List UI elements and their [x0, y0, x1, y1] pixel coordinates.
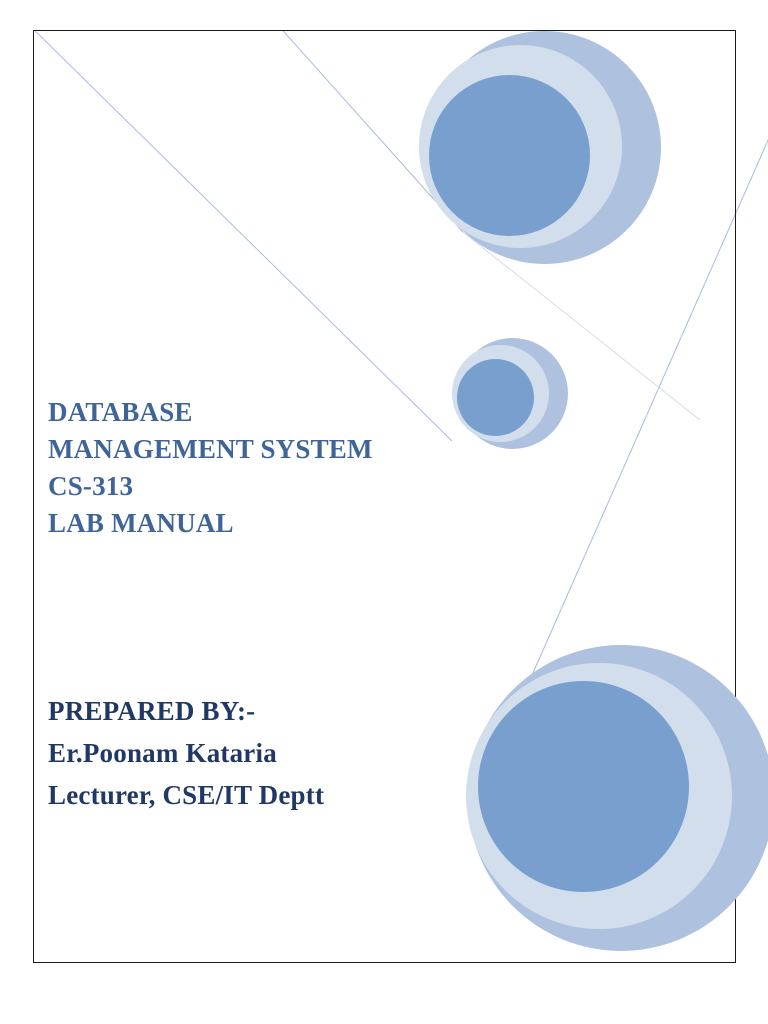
author-designation: Lecturer, CSE/IT Deptt — [48, 774, 324, 816]
cover-author-block: PREPARED BY:- Er.Poonam Kataria Lecturer… — [48, 690, 324, 816]
document-cover-page: DATABASE MANAGEMENT SYSTEM CS-313 LAB MA… — [0, 0, 768, 1024]
title-line-4: LAB MANUAL — [48, 505, 373, 542]
circle-inner-disc — [478, 681, 689, 892]
bottom-right-circles — [466, 645, 768, 1005]
circle-inner-disc — [457, 359, 534, 436]
author-name: Er.Poonam Kataria — [48, 732, 324, 774]
center-circles — [448, 338, 572, 462]
left-margin-mask — [0, 0, 33, 963]
top-right-circles — [411, 31, 661, 281]
top-margin-mask — [0, 0, 768, 30]
prepared-by-label: PREPARED BY:- — [48, 690, 324, 732]
cover-title: DATABASE MANAGEMENT SYSTEM CS-313 LAB MA… — [48, 394, 373, 542]
circle-inner-disc — [429, 75, 590, 236]
title-line-1: DATABASE — [48, 394, 373, 431]
title-line-2: MANAGEMENT SYSTEM — [48, 431, 373, 468]
title-line-3: CS-313 — [48, 468, 373, 505]
